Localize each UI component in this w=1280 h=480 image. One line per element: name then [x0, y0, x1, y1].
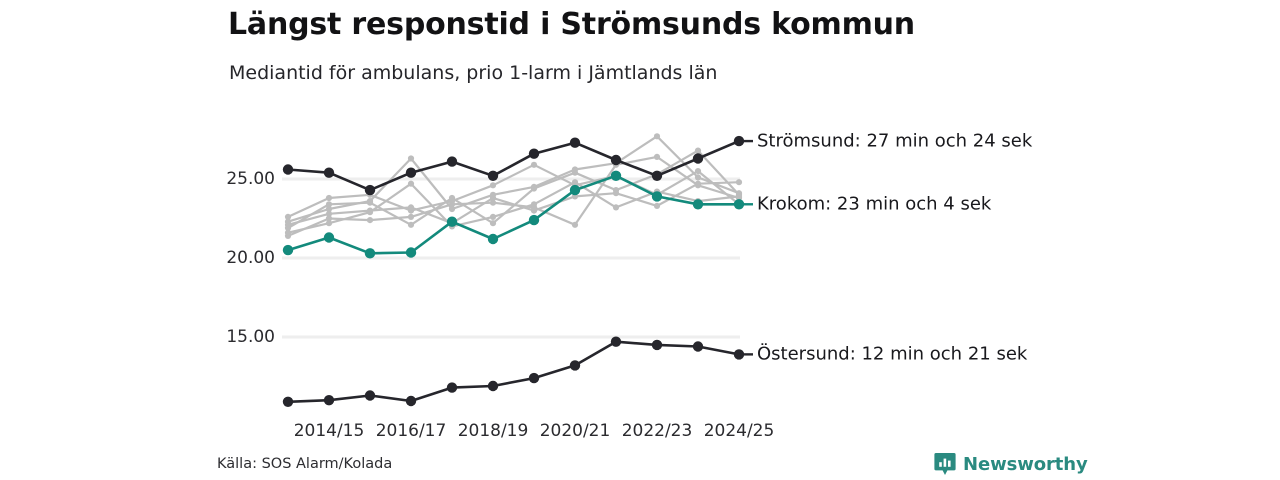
series-strömsund — [283, 136, 744, 195]
newsworthy-bars-pin-icon — [934, 452, 956, 477]
series-label-östersund: Östersund: 12 min och 21 sek — [757, 344, 1027, 365]
x-tick-2020-21: 2020/21 — [540, 421, 611, 441]
series-bakgrund-5 — [285, 179, 742, 236]
series-östersund — [283, 337, 744, 407]
series-label-krokom: Krokom: 23 min och 4 sek — [757, 194, 991, 215]
newsworthy-logo: Newsworthy — [934, 452, 1088, 477]
x-tick-2014-15: 2014/15 — [294, 421, 365, 441]
x-tick-2016-17: 2016/17 — [376, 421, 447, 441]
x-tick-2024-25: 2024/25 — [704, 421, 775, 441]
source-note: Källa: SOS Alarm/Kolada — [217, 456, 392, 472]
y-tick-20-00: 20.00 — [226, 248, 275, 268]
series-label-strömsund: Strömsund: 27 min och 24 sek — [757, 131, 1032, 152]
y-tick-15-00: 15.00 — [226, 327, 275, 347]
newsworthy-logo-text: Newsworthy — [963, 454, 1088, 475]
y-tick-25-00: 25.00 — [226, 169, 275, 189]
chart-page: Längst responstid i Strömsunds kommun Me… — [0, 0, 1280, 480]
x-tick-2022-23: 2022/23 — [622, 421, 693, 441]
line-chart-plot — [0, 0, 1280, 480]
x-tick-2018-19: 2018/19 — [458, 421, 529, 441]
